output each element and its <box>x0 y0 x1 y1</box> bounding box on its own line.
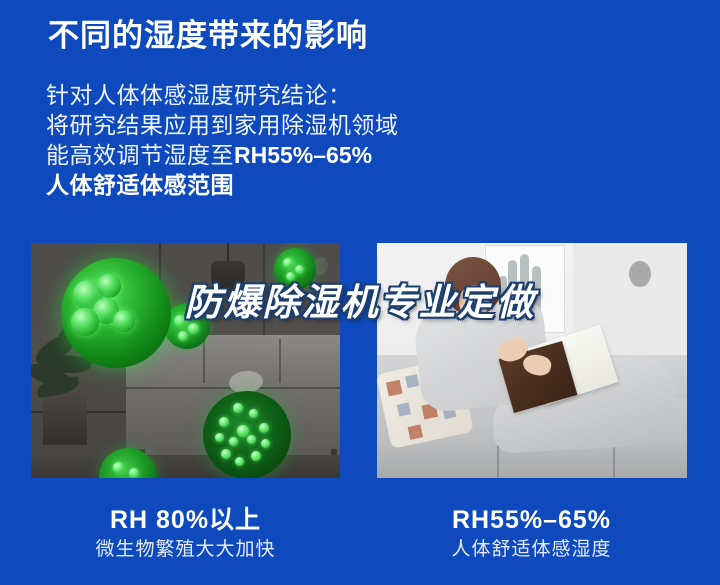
body-line-2: 将研究结果应用到家用除湿机领域 <box>46 110 516 140</box>
germ-sphere-spotted-icon <box>203 391 291 478</box>
body-text-block: 针对人体体感湿度研究结论： 将研究结果应用到家用除湿机领域 能高效调节湿度至RH… <box>46 80 516 200</box>
floor-icon <box>31 455 340 478</box>
caption-right-title: RH55%–65% <box>377 504 686 536</box>
sofa-cushion-line-icon <box>279 339 281 383</box>
body-line-3-prefix: 能高效调节湿度至 <box>46 142 234 168</box>
body-line-3-highlight: RH55%–65% <box>234 142 372 168</box>
body-line-3: 能高效调节湿度至RH55%–65% <box>46 140 516 170</box>
body-line-4: 人体舒适体感范围 <box>46 170 516 200</box>
poster-root: 不同的湿度带来的影响 针对人体体感湿度研究结论： 将研究结果应用到家用除湿机领域… <box>0 0 720 585</box>
plant-pot-icon <box>43 393 87 445</box>
overlay-title: 防爆除湿机专业定做 <box>0 272 720 326</box>
caption-right: RH55%–65% 人体舒适体感湿度 <box>377 504 686 564</box>
sofa-cushion-line-icon <box>203 339 205 383</box>
page-title: 不同的湿度带来的影响 <box>48 16 368 56</box>
caption-left: RH 80%以上 微生物繁殖大大加快 <box>31 504 340 564</box>
body-line-1: 针对人体体感湿度研究结论： <box>46 80 516 110</box>
caption-left-title: RH 80%以上 <box>31 504 340 536</box>
caption-right-subtitle: 人体舒适体感湿度 <box>377 536 686 564</box>
caption-left-subtitle: 微生物繁殖大大加快 <box>31 536 340 564</box>
